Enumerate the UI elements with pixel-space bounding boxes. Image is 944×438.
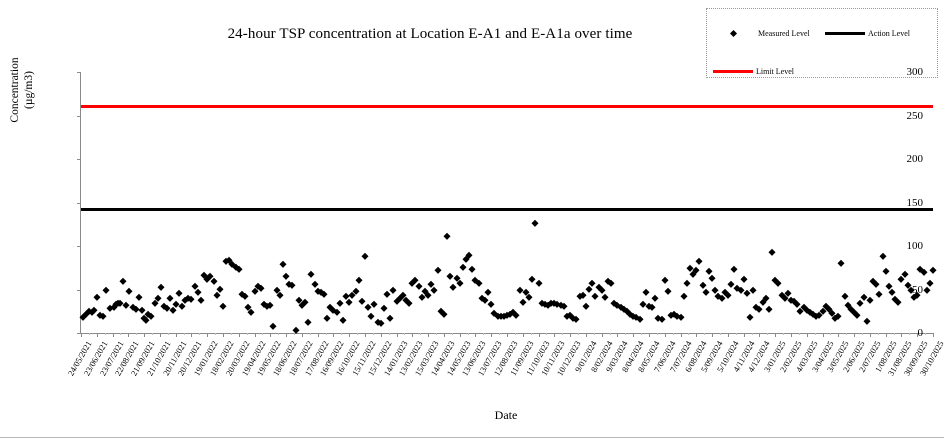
data-point bbox=[179, 303, 185, 309]
x-axis-tick-mark bbox=[207, 333, 208, 337]
x-axis-minor-tick-mark bbox=[168, 333, 169, 335]
x-axis-tick-mark bbox=[349, 333, 350, 337]
data-point bbox=[895, 298, 901, 304]
data-point bbox=[696, 258, 702, 264]
x-axis-tick-mark bbox=[255, 333, 256, 337]
data-point bbox=[725, 291, 731, 297]
x-axis-tick-mark bbox=[696, 333, 697, 337]
x-axis-tick-mark bbox=[617, 333, 618, 337]
data-point bbox=[526, 294, 532, 300]
data-point bbox=[665, 288, 671, 294]
x-axis-minor-tick-mark bbox=[546, 333, 547, 335]
x-axis-minor-tick-mark bbox=[357, 333, 358, 335]
data-point bbox=[120, 278, 126, 284]
data-point bbox=[854, 311, 860, 317]
data-point bbox=[236, 266, 242, 272]
x-axis-minor-tick-mark bbox=[531, 333, 532, 335]
data-point bbox=[355, 277, 361, 283]
data-point bbox=[198, 297, 204, 303]
x-axis-minor-tick-mark bbox=[420, 333, 421, 335]
data-point bbox=[139, 306, 145, 312]
data-point bbox=[434, 267, 440, 273]
x-axis-minor-tick-mark bbox=[120, 333, 121, 335]
data-point bbox=[756, 305, 762, 311]
x-axis-tick-mark bbox=[775, 333, 776, 337]
diamond-marker-icon bbox=[730, 30, 737, 37]
data-point bbox=[148, 313, 154, 319]
data-point bbox=[126, 288, 132, 294]
data-point bbox=[643, 289, 649, 295]
x-axis-tick-mark bbox=[633, 333, 634, 337]
y-axis-tick-mark bbox=[77, 203, 81, 204]
x-axis-tick-mark bbox=[744, 333, 745, 337]
data-point bbox=[302, 298, 308, 304]
plot-area: 050100150200250300 24/05/202123/06/20212… bbox=[80, 72, 933, 334]
x-axis-minor-tick-mark bbox=[594, 333, 595, 335]
data-point bbox=[390, 286, 396, 292]
x-axis-minor-tick-mark bbox=[799, 333, 800, 335]
data-point bbox=[769, 249, 775, 255]
data-point bbox=[532, 219, 538, 225]
data-point bbox=[217, 285, 223, 291]
data-point bbox=[444, 232, 450, 238]
x-axis-tick-mark bbox=[539, 333, 540, 337]
data-point bbox=[718, 295, 724, 301]
data-point bbox=[677, 314, 683, 320]
data-point bbox=[706, 268, 712, 274]
x-axis-tick-mark bbox=[302, 333, 303, 337]
data-point bbox=[188, 296, 194, 302]
x-axis-tick-mark bbox=[460, 333, 461, 337]
y-axis-title-line1: Concentration bbox=[9, 57, 21, 122]
data-point bbox=[744, 290, 750, 296]
data-point bbox=[923, 286, 929, 292]
x-axis-title: Date bbox=[80, 408, 932, 423]
data-point bbox=[602, 294, 608, 300]
x-axis-minor-tick-mark bbox=[688, 333, 689, 335]
x-axis-tick-mark bbox=[838, 333, 839, 337]
x-axis-minor-tick-mark bbox=[373, 333, 374, 335]
x-axis-tick-mark bbox=[759, 333, 760, 337]
x-axis-tick-mark bbox=[681, 333, 682, 337]
data-point bbox=[359, 298, 365, 304]
y-axis-tick-label: 0 bbox=[918, 327, 924, 339]
x-axis-minor-tick-mark bbox=[152, 333, 153, 335]
data-point bbox=[384, 291, 390, 297]
data-point bbox=[488, 301, 494, 307]
data-point bbox=[649, 304, 655, 310]
data-point bbox=[680, 293, 686, 299]
x-axis-minor-tick-mark bbox=[326, 333, 327, 335]
y-axis-tick-mark bbox=[77, 290, 81, 291]
x-axis-tick-mark bbox=[649, 333, 650, 337]
data-point bbox=[662, 277, 668, 283]
data-point bbox=[867, 297, 873, 303]
y-axis-tick-label: 200 bbox=[907, 153, 924, 165]
data-point bbox=[485, 289, 491, 295]
x-axis-minor-tick-mark bbox=[862, 333, 863, 335]
y-axis-tick-mark bbox=[77, 159, 81, 160]
data-point bbox=[94, 294, 100, 300]
x-axis-tick-mark bbox=[239, 333, 240, 337]
x-axis-tick-mark bbox=[81, 333, 82, 337]
x-axis-minor-tick-mark bbox=[247, 333, 248, 335]
x-axis-tick-mark bbox=[933, 333, 934, 337]
data-point bbox=[346, 298, 352, 304]
x-axis-tick-mark bbox=[365, 333, 366, 337]
x-axis-tick-mark bbox=[523, 333, 524, 337]
data-point bbox=[176, 290, 182, 296]
data-point bbox=[248, 309, 254, 315]
data-point bbox=[460, 264, 466, 270]
data-point bbox=[324, 315, 330, 321]
data-point bbox=[431, 286, 437, 292]
data-point bbox=[308, 271, 314, 277]
data-point bbox=[371, 301, 377, 307]
x-axis-tick-mark bbox=[665, 333, 666, 337]
y-axis-tick-mark bbox=[77, 246, 81, 247]
data-point bbox=[123, 302, 129, 308]
x-axis-minor-tick-mark bbox=[925, 333, 926, 335]
x-axis-tick-mark bbox=[318, 333, 319, 337]
x-axis-minor-tick-mark bbox=[894, 333, 895, 335]
data-point bbox=[305, 318, 311, 324]
x-axis-tick-mark bbox=[412, 333, 413, 337]
data-point bbox=[652, 295, 658, 301]
chart-container: 24-hour TSP concentration at Location E-… bbox=[0, 0, 944, 438]
data-point bbox=[270, 323, 276, 329]
data-point bbox=[639, 301, 645, 307]
threshold-line-limit-level bbox=[81, 105, 933, 108]
data-point bbox=[879, 253, 885, 259]
data-point bbox=[362, 253, 368, 259]
y-axis-tick-label: 300 bbox=[907, 66, 924, 78]
data-point bbox=[277, 291, 283, 297]
data-point bbox=[103, 286, 109, 292]
x-axis-minor-tick-mark bbox=[231, 333, 232, 335]
x-axis-minor-tick-mark bbox=[452, 333, 453, 335]
y-axis-tick-label: 150 bbox=[907, 197, 924, 209]
threshold-line-action-level bbox=[81, 208, 933, 211]
data-point bbox=[750, 286, 756, 292]
x-axis-minor-tick-mark bbox=[815, 333, 816, 335]
x-axis-tick-mark bbox=[128, 333, 129, 337]
x-axis-tick-mark bbox=[428, 333, 429, 337]
data-point bbox=[930, 267, 936, 273]
data-point bbox=[592, 293, 598, 299]
data-point bbox=[381, 305, 387, 311]
data-point bbox=[447, 272, 453, 278]
x-axis-tick-mark bbox=[823, 333, 824, 337]
data-point bbox=[289, 282, 295, 288]
x-axis-tick-mark bbox=[475, 333, 476, 337]
data-point bbox=[321, 291, 327, 297]
data-point bbox=[841, 293, 847, 299]
x-axis-minor-tick-mark bbox=[515, 333, 516, 335]
data-point bbox=[136, 294, 142, 300]
data-point bbox=[425, 291, 431, 297]
data-point bbox=[406, 300, 412, 306]
data-point bbox=[876, 291, 882, 297]
x-axis-tick-mark bbox=[807, 333, 808, 337]
x-axis-minor-tick-mark bbox=[89, 333, 90, 335]
data-point bbox=[529, 276, 535, 282]
data-point bbox=[561, 303, 567, 309]
x-axis-tick-mark bbox=[270, 333, 271, 337]
x-axis-tick-mark bbox=[397, 333, 398, 337]
data-point bbox=[513, 311, 519, 317]
data-point bbox=[658, 316, 664, 322]
x-axis-minor-tick-mark bbox=[752, 333, 753, 335]
x-axis-tick-mark bbox=[286, 333, 287, 337]
x-axis-tick-mark bbox=[491, 333, 492, 337]
data-point bbox=[466, 251, 472, 257]
x-axis-tick-mark bbox=[444, 333, 445, 337]
x-axis-minor-tick-mark bbox=[294, 333, 295, 335]
data-point bbox=[684, 280, 690, 286]
data-point bbox=[450, 284, 456, 290]
x-axis-minor-tick-mark bbox=[578, 333, 579, 335]
y-axis-tick-label: 250 bbox=[907, 110, 924, 122]
data-point bbox=[337, 299, 343, 305]
legend-label-action-level: Action Level bbox=[868, 29, 910, 38]
legend-item-action-level[interactable]: Action Level bbox=[825, 29, 910, 38]
x-axis-minor-tick-mark bbox=[341, 333, 342, 335]
data-point bbox=[210, 278, 216, 284]
y-axis-title-line2: (µg/m3) bbox=[22, 30, 36, 150]
x-axis-minor-tick-mark bbox=[783, 333, 784, 335]
x-axis-minor-tick-mark bbox=[641, 333, 642, 335]
x-axis-minor-tick-mark bbox=[199, 333, 200, 335]
x-axis-minor-tick-mark bbox=[136, 333, 137, 335]
data-point bbox=[731, 265, 737, 271]
x-axis-tick-mark bbox=[381, 333, 382, 337]
x-axis-tick-mark bbox=[602, 333, 603, 337]
x-axis-minor-tick-mark bbox=[310, 333, 311, 335]
data-point bbox=[573, 316, 579, 322]
data-point bbox=[333, 309, 339, 315]
x-axis-tick-mark bbox=[728, 333, 729, 337]
x-axis-minor-tick-mark bbox=[389, 333, 390, 335]
x-axis-tick-mark bbox=[113, 333, 114, 337]
data-point bbox=[775, 280, 781, 286]
line-marker-icon-black bbox=[825, 32, 865, 35]
x-axis-tick-mark bbox=[554, 333, 555, 337]
x-axis-minor-tick-mark bbox=[657, 333, 658, 335]
data-point bbox=[608, 280, 614, 286]
data-point bbox=[311, 281, 317, 287]
x-axis-tick-mark bbox=[586, 333, 587, 337]
data-point bbox=[469, 265, 475, 271]
x-axis-tick-mark bbox=[144, 333, 145, 337]
data-point bbox=[167, 295, 173, 301]
x-axis-minor-tick-mark bbox=[720, 333, 721, 335]
data-point bbox=[583, 303, 589, 309]
x-axis-minor-tick-mark bbox=[278, 333, 279, 335]
data-point bbox=[589, 279, 595, 285]
x-axis-minor-tick-mark bbox=[105, 333, 106, 335]
x-axis-tick-mark bbox=[901, 333, 902, 337]
legend-item-measured-level[interactable]: Measured Level bbox=[725, 29, 810, 38]
data-point bbox=[927, 279, 933, 285]
y-axis-title: Concentration (µg/m3) bbox=[8, 30, 36, 150]
x-axis-tick-mark bbox=[791, 333, 792, 337]
data-point bbox=[475, 280, 481, 286]
x-axis-tick-mark bbox=[176, 333, 177, 337]
data-point bbox=[882, 268, 888, 274]
data-point bbox=[703, 289, 709, 295]
legend-label-measured-level: Measured Level bbox=[758, 29, 810, 38]
data-point bbox=[520, 298, 526, 304]
data-point bbox=[258, 285, 264, 291]
x-axis-tick-mark bbox=[333, 333, 334, 337]
x-axis-tick-mark bbox=[917, 333, 918, 337]
x-axis-minor-tick-mark bbox=[404, 333, 405, 335]
data-point bbox=[920, 269, 926, 275]
x-axis-tick-mark bbox=[223, 333, 224, 337]
x-axis-minor-tick-mark bbox=[704, 333, 705, 335]
x-axis-tick-mark bbox=[886, 333, 887, 337]
y-axis-tick-mark bbox=[77, 72, 81, 73]
data-point bbox=[740, 276, 746, 282]
y-axis-tick-mark bbox=[77, 116, 81, 117]
x-axis-minor-tick-mark bbox=[610, 333, 611, 335]
data-point bbox=[220, 303, 226, 309]
data-point bbox=[368, 312, 374, 318]
data-point bbox=[415, 283, 421, 289]
x-axis-minor-tick-mark bbox=[846, 333, 847, 335]
data-point bbox=[709, 275, 715, 281]
data-point bbox=[158, 284, 164, 290]
x-axis-minor-tick-mark bbox=[625, 333, 626, 335]
data-point bbox=[835, 312, 841, 318]
data-point bbox=[482, 297, 488, 303]
x-axis-tick-mark bbox=[570, 333, 571, 337]
data-point bbox=[863, 318, 869, 324]
x-axis-tick-mark bbox=[160, 333, 161, 337]
data-point bbox=[195, 289, 201, 295]
x-axis-minor-tick-mark bbox=[184, 333, 185, 335]
data-point bbox=[636, 316, 642, 322]
data-point bbox=[857, 300, 863, 306]
chart-legend: Measured Level Action Level Limit Level bbox=[706, 8, 938, 78]
data-point bbox=[441, 311, 447, 317]
x-axis-tick-mark bbox=[870, 333, 871, 337]
x-axis-minor-tick-mark bbox=[562, 333, 563, 335]
data-point bbox=[242, 292, 248, 298]
x-axis-tick-mark bbox=[854, 333, 855, 337]
data-point bbox=[747, 314, 753, 320]
x-axis-minor-tick-mark bbox=[673, 333, 674, 335]
x-axis-tick-mark bbox=[191, 333, 192, 337]
data-point bbox=[535, 279, 541, 285]
x-axis-minor-tick-mark bbox=[830, 333, 831, 335]
data-point bbox=[873, 281, 879, 287]
data-point bbox=[283, 272, 289, 278]
x-axis-tick-mark bbox=[507, 333, 508, 337]
x-axis-minor-tick-mark bbox=[483, 333, 484, 335]
x-axis-minor-tick-mark bbox=[215, 333, 216, 335]
data-point bbox=[213, 291, 219, 297]
x-axis-minor-tick-mark bbox=[468, 333, 469, 335]
data-point bbox=[838, 260, 844, 266]
x-axis-minor-tick-mark bbox=[909, 333, 910, 335]
x-axis-minor-tick-mark bbox=[436, 333, 437, 335]
x-axis-minor-tick-mark bbox=[736, 333, 737, 335]
x-axis-minor-tick-mark bbox=[878, 333, 879, 335]
x-axis-minor-tick-mark bbox=[262, 333, 263, 335]
x-axis-minor-tick-mark bbox=[767, 333, 768, 335]
data-point bbox=[889, 289, 895, 295]
data-point bbox=[280, 261, 286, 267]
x-axis-minor-tick-mark bbox=[499, 333, 500, 335]
data-point bbox=[387, 315, 393, 321]
data-point bbox=[340, 317, 346, 323]
y-axis-tick-label: 100 bbox=[907, 240, 924, 252]
x-axis-tick-mark bbox=[712, 333, 713, 337]
x-axis-tick-mark bbox=[97, 333, 98, 337]
data-point bbox=[766, 305, 772, 311]
data-point bbox=[699, 282, 705, 288]
